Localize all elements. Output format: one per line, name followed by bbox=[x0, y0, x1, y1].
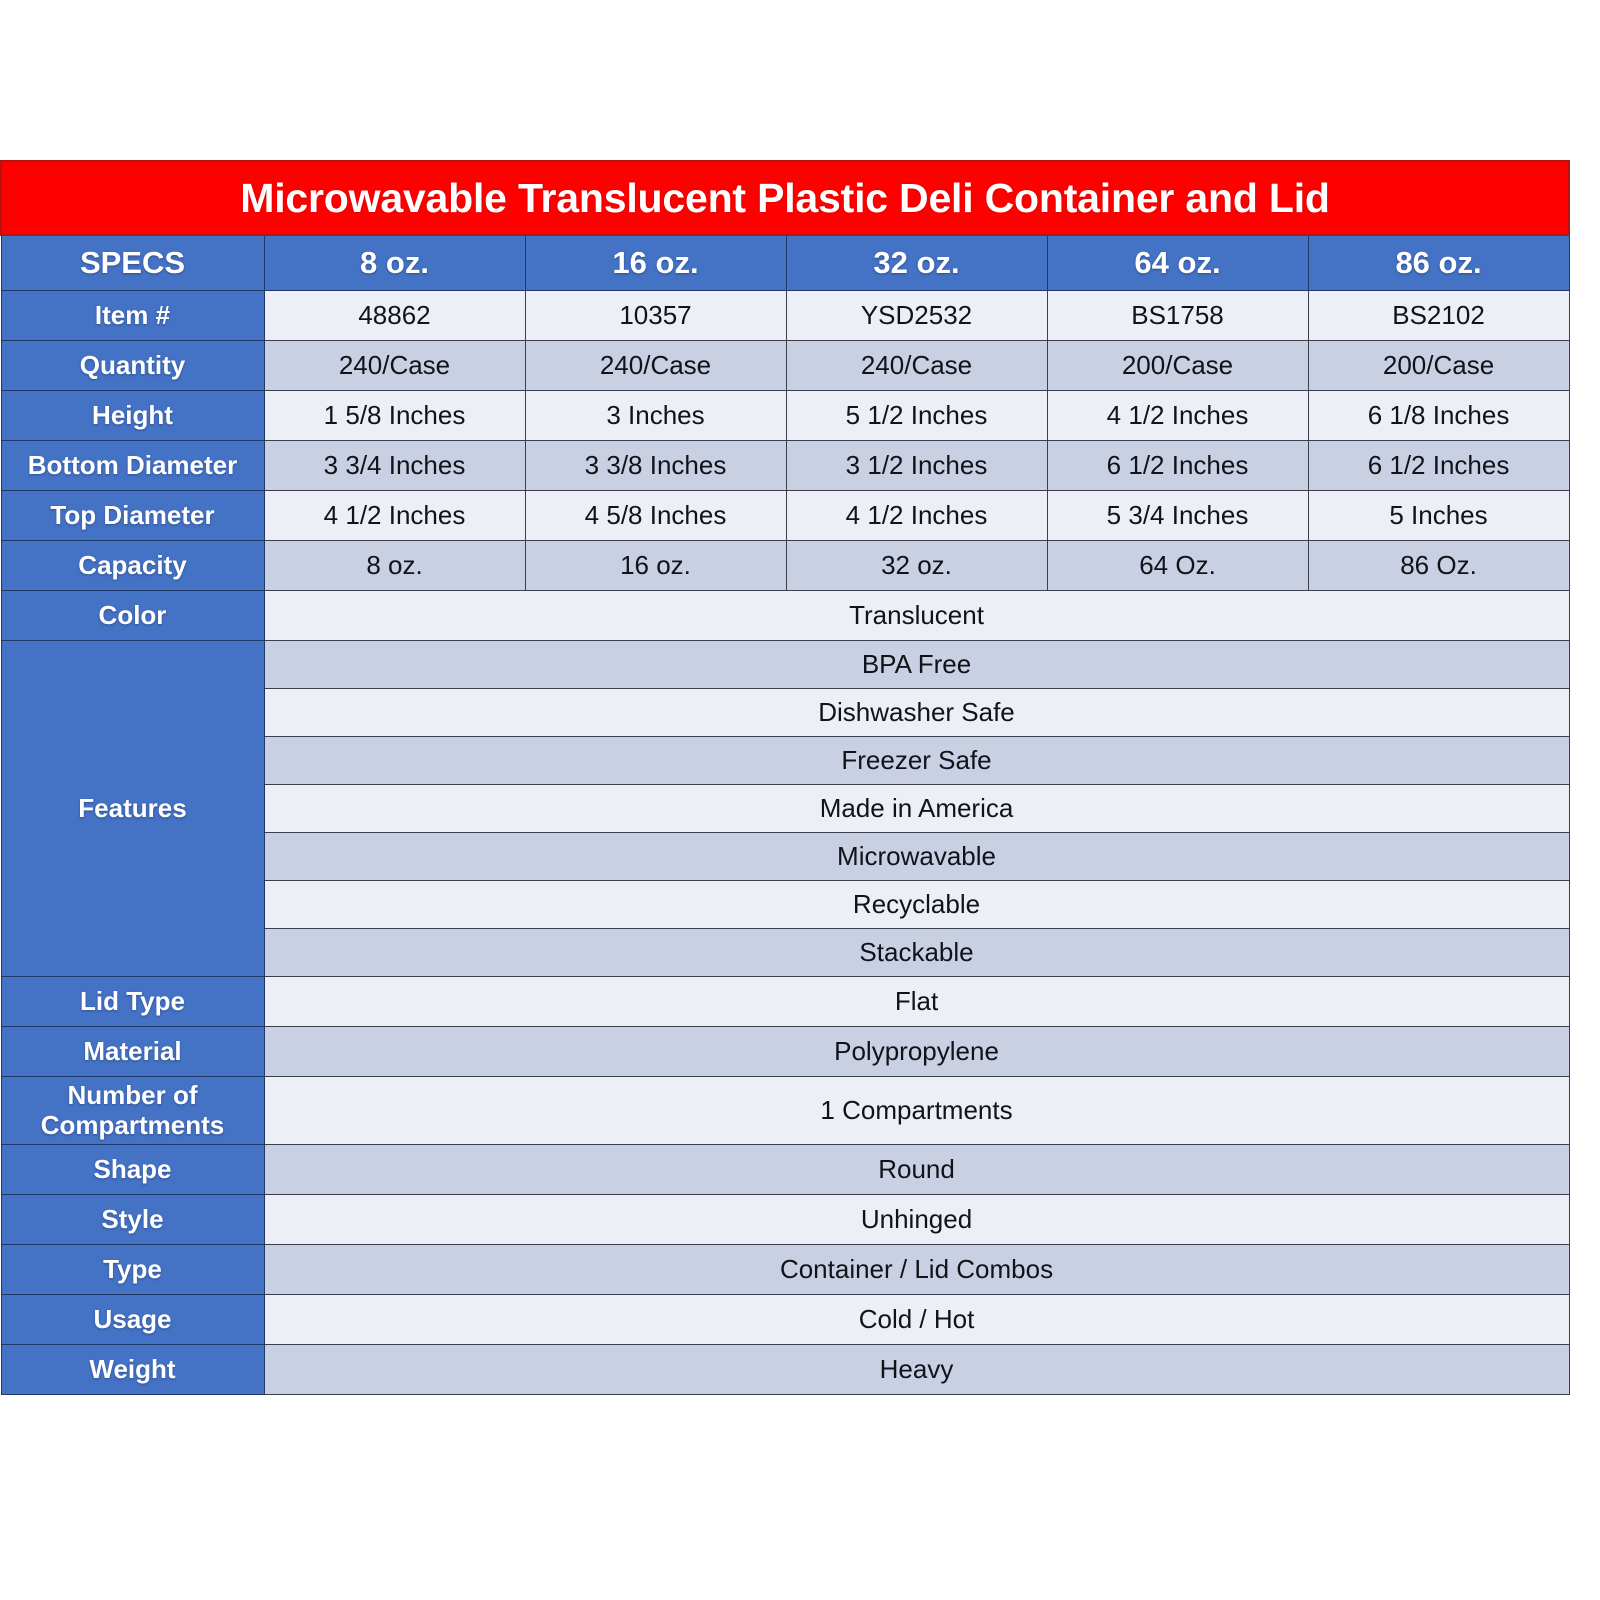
table-cell-merged: Made in America bbox=[264, 785, 1569, 833]
page-title: Microwavable Translucent Plastic Deli Co… bbox=[240, 175, 1329, 221]
table-cell: 4 1/2 Inches bbox=[786, 491, 1047, 541]
table-cell: 4 1/2 Inches bbox=[1047, 391, 1308, 441]
column-header-86oz: 86 oz. bbox=[1308, 235, 1569, 291]
cell-text: 240/Case bbox=[526, 350, 786, 381]
cell-text: 6 1/2 Inches bbox=[1309, 450, 1569, 481]
row-label-text: Features bbox=[78, 793, 186, 823]
table-cell: BS1758 bbox=[1047, 291, 1308, 341]
cell-text: 3 3/8 Inches bbox=[526, 450, 786, 481]
table-cell: 6 1/8 Inches bbox=[1308, 391, 1569, 441]
column-header-label: 86 oz. bbox=[1395, 245, 1481, 280]
table-cell: 3 3/4 Inches bbox=[264, 441, 525, 491]
table-row: Top Diameter 4 1/2 Inches 4 5/8 Inches 4… bbox=[1, 491, 1569, 541]
row-label-text: Top Diameter bbox=[2, 501, 264, 530]
cell-text: BPA Free bbox=[265, 649, 1569, 680]
cell-text: Microwavable bbox=[265, 841, 1569, 872]
table-cell-merged: Recyclable bbox=[264, 881, 1569, 929]
row-label-capacity: Capacity bbox=[1, 541, 264, 591]
row-label-text: Style bbox=[2, 1205, 264, 1234]
cell-text: 3 3/4 Inches bbox=[265, 450, 525, 481]
table-cell-merged: Stackable bbox=[264, 929, 1569, 977]
cell-text: 200/Case bbox=[1048, 350, 1308, 381]
table-row: Lid Type Flat bbox=[1, 977, 1569, 1027]
table-cell: 8 oz. bbox=[264, 541, 525, 591]
cell-text: Round bbox=[265, 1154, 1569, 1185]
cell-text: Dishwasher Safe bbox=[265, 697, 1569, 728]
cell-text: Recyclable bbox=[265, 889, 1569, 920]
cell-text: Flat bbox=[265, 986, 1569, 1017]
row-label-height: Height bbox=[1, 391, 264, 441]
table-row: Shape Round bbox=[1, 1145, 1569, 1195]
column-header-64oz: 64 oz. bbox=[1047, 235, 1308, 291]
row-label-text: Quantity bbox=[2, 351, 264, 380]
row-label-text: Usage bbox=[2, 1305, 264, 1334]
table-cell: 16 oz. bbox=[525, 541, 786, 591]
title-row: Microwavable Translucent Plastic Deli Co… bbox=[1, 161, 1569, 235]
row-label-text: Color bbox=[2, 601, 264, 630]
row-label-weight: Weight bbox=[1, 1345, 264, 1395]
column-header-label: 64 oz. bbox=[1134, 245, 1220, 280]
row-label-text: Type bbox=[2, 1255, 264, 1284]
cell-text: 16 oz. bbox=[526, 550, 786, 581]
table-cell: YSD2532 bbox=[786, 291, 1047, 341]
table-row: Bottom Diameter 3 3/4 Inches 3 3/8 Inche… bbox=[1, 441, 1569, 491]
table-cell: 5 1/2 Inches bbox=[786, 391, 1047, 441]
row-label-lid-type: Lid Type bbox=[1, 977, 264, 1027]
cell-text: 48862 bbox=[265, 300, 525, 331]
cell-text: 240/Case bbox=[787, 350, 1047, 381]
column-header-label: SPECS bbox=[80, 245, 185, 280]
table-cell-merged: Flat bbox=[264, 977, 1569, 1027]
table-row: Color Translucent bbox=[1, 591, 1569, 641]
spec-sheet: OnlyOneStopShop Bringing it closer to yo… bbox=[0, 0, 1600, 1600]
column-header-specs: SPECS bbox=[1, 235, 264, 291]
row-label-text: Number of Compartments bbox=[2, 1081, 264, 1139]
table-cell: 32 oz. bbox=[786, 541, 1047, 591]
table-cell: BS2102 bbox=[1308, 291, 1569, 341]
table-cell-merged: BPA Free bbox=[264, 641, 1569, 689]
row-label-text: Bottom Diameter bbox=[2, 451, 264, 480]
cell-text: 8 oz. bbox=[265, 550, 525, 581]
table-row: Capacity 8 oz. 16 oz. 32 oz. 64 Oz. 86 O… bbox=[1, 541, 1569, 591]
row-label-usage: Usage bbox=[1, 1295, 264, 1345]
cell-text: 64 Oz. bbox=[1048, 550, 1308, 581]
cell-text: 3 Inches bbox=[526, 400, 786, 431]
row-label-type: Type bbox=[1, 1245, 264, 1295]
table-cell-merged: 1 Compartments bbox=[264, 1077, 1569, 1145]
column-header-16oz: 16 oz. bbox=[525, 235, 786, 291]
table-cell-merged: Heavy bbox=[264, 1345, 1569, 1395]
table-row: Height 1 5/8 Inches 3 Inches 5 1/2 Inche… bbox=[1, 391, 1569, 441]
table-cell: 240/Case bbox=[525, 341, 786, 391]
table-cell-merged: Cold / Hot bbox=[264, 1295, 1569, 1345]
table-cell: 6 1/2 Inches bbox=[1047, 441, 1308, 491]
table-cell: 3 3/8 Inches bbox=[525, 441, 786, 491]
table-cell: 3 1/2 Inches bbox=[786, 441, 1047, 491]
row-label-material: Material bbox=[1, 1027, 264, 1077]
column-header-label: 8 oz. bbox=[360, 245, 429, 280]
table-cell: 240/Case bbox=[786, 341, 1047, 391]
column-header-row: SPECS 8 oz. 16 oz. 32 oz. 64 oz. 86 oz. bbox=[1, 235, 1569, 291]
table-cell-merged: Polypropylene bbox=[264, 1027, 1569, 1077]
table-row: Weight Heavy bbox=[1, 1345, 1569, 1395]
column-header-8oz: 8 oz. bbox=[264, 235, 525, 291]
table-cell-merged: Freezer Safe bbox=[264, 737, 1569, 785]
cell-text: YSD2532 bbox=[787, 300, 1047, 331]
table-cell: 5 3/4 Inches bbox=[1047, 491, 1308, 541]
cell-text: 200/Case bbox=[1309, 350, 1569, 381]
cell-text: 10357 bbox=[526, 300, 786, 331]
table-row: Quantity 240/Case 240/Case 240/Case 200/… bbox=[1, 341, 1569, 391]
cell-text: BS2102 bbox=[1309, 300, 1569, 331]
row-label-text: Shape bbox=[2, 1155, 264, 1184]
cell-text: 86 Oz. bbox=[1309, 550, 1569, 581]
cell-text: Polypropylene bbox=[265, 1036, 1569, 1067]
cell-text: Stackable bbox=[265, 937, 1569, 968]
row-label-features: Features bbox=[1, 641, 264, 977]
table-cell-merged: Container / Lid Combos bbox=[264, 1245, 1569, 1295]
table-cell: 3 Inches bbox=[525, 391, 786, 441]
table-cell: 5 Inches bbox=[1308, 491, 1569, 541]
title-banner: Microwavable Translucent Plastic Deli Co… bbox=[1, 161, 1569, 235]
cell-text: 4 1/2 Inches bbox=[1048, 400, 1308, 431]
table-row: Features BPA Free bbox=[1, 641, 1569, 689]
cell-text: 5 Inches bbox=[1309, 500, 1569, 531]
cell-text: 5 1/2 Inches bbox=[787, 400, 1047, 431]
row-label-top-diameter: Top Diameter bbox=[1, 491, 264, 541]
table-cell: 240/Case bbox=[264, 341, 525, 391]
row-label-text: Weight bbox=[2, 1355, 264, 1384]
cell-text: Heavy bbox=[265, 1354, 1569, 1385]
spec-table-container: Microwavable Translucent Plastic Deli Co… bbox=[0, 160, 1568, 1395]
table-row: Type Container / Lid Combos bbox=[1, 1245, 1569, 1295]
row-label-text: Capacity bbox=[2, 551, 264, 580]
cell-text: Made in America bbox=[265, 793, 1569, 824]
table-row: Number of Compartments 1 Compartments bbox=[1, 1077, 1569, 1145]
row-label-number-of-compartments: Number of Compartments bbox=[1, 1077, 264, 1145]
row-label-text: Height bbox=[2, 401, 264, 430]
spec-table: Microwavable Translucent Plastic Deli Co… bbox=[0, 160, 1570, 1395]
cell-text: Container / Lid Combos bbox=[265, 1254, 1569, 1285]
row-label-text: Lid Type bbox=[2, 987, 264, 1016]
cell-text: Freezer Safe bbox=[265, 745, 1569, 776]
table-cell: 4 1/2 Inches bbox=[264, 491, 525, 541]
table-cell: 64 Oz. bbox=[1047, 541, 1308, 591]
table-cell-merged: Translucent bbox=[264, 591, 1569, 641]
table-cell: 1 5/8 Inches bbox=[264, 391, 525, 441]
table-cell: 86 Oz. bbox=[1308, 541, 1569, 591]
row-label-style: Style bbox=[1, 1195, 264, 1245]
table-cell: 200/Case bbox=[1308, 341, 1569, 391]
column-header-label: 16 oz. bbox=[612, 245, 698, 280]
table-row: Style Unhinged bbox=[1, 1195, 1569, 1245]
row-label-shape: Shape bbox=[1, 1145, 264, 1195]
cell-text: Cold / Hot bbox=[265, 1304, 1569, 1335]
table-cell: 10357 bbox=[525, 291, 786, 341]
row-label-text: Item # bbox=[2, 301, 264, 330]
cell-text: 6 1/8 Inches bbox=[1309, 400, 1569, 431]
table-cell: 6 1/2 Inches bbox=[1308, 441, 1569, 491]
cell-text: 4 1/2 Inches bbox=[787, 500, 1047, 531]
cell-text: 1 Compartments bbox=[265, 1095, 1569, 1126]
table-cell-merged: Dishwasher Safe bbox=[264, 689, 1569, 737]
table-cell-merged: Unhinged bbox=[264, 1195, 1569, 1245]
cell-text: 240/Case bbox=[265, 350, 525, 381]
cell-text: 32 oz. bbox=[787, 550, 1047, 581]
cell-text: 3 1/2 Inches bbox=[787, 450, 1047, 481]
cell-text: BS1758 bbox=[1048, 300, 1308, 331]
table-cell-merged: Round bbox=[264, 1145, 1569, 1195]
table-row: Item # 48862 10357 YSD2532 BS1758 BS2102 bbox=[1, 291, 1569, 341]
row-label-color: Color bbox=[1, 591, 264, 641]
row-label-bottom-diameter: Bottom Diameter bbox=[1, 441, 264, 491]
cell-text: 5 3/4 Inches bbox=[1048, 500, 1308, 531]
cell-text: Translucent bbox=[265, 600, 1569, 631]
cell-text: 4 1/2 Inches bbox=[265, 500, 525, 531]
cell-text: 6 1/2 Inches bbox=[1048, 450, 1308, 481]
column-header-32oz: 32 oz. bbox=[786, 235, 1047, 291]
table-cell: 48862 bbox=[264, 291, 525, 341]
table-cell: 200/Case bbox=[1047, 341, 1308, 391]
cell-text: 1 5/8 Inches bbox=[265, 400, 525, 431]
row-label-text: Material bbox=[2, 1037, 264, 1066]
table-cell-merged: Microwavable bbox=[264, 833, 1569, 881]
column-header-label: 32 oz. bbox=[873, 245, 959, 280]
table-row: Usage Cold / Hot bbox=[1, 1295, 1569, 1345]
table-cell: 4 5/8 Inches bbox=[525, 491, 786, 541]
row-label-quantity: Quantity bbox=[1, 341, 264, 391]
cell-text: 4 5/8 Inches bbox=[526, 500, 786, 531]
cell-text: Unhinged bbox=[265, 1204, 1569, 1235]
table-row: Material Polypropylene bbox=[1, 1027, 1569, 1077]
row-label-item-number: Item # bbox=[1, 291, 264, 341]
